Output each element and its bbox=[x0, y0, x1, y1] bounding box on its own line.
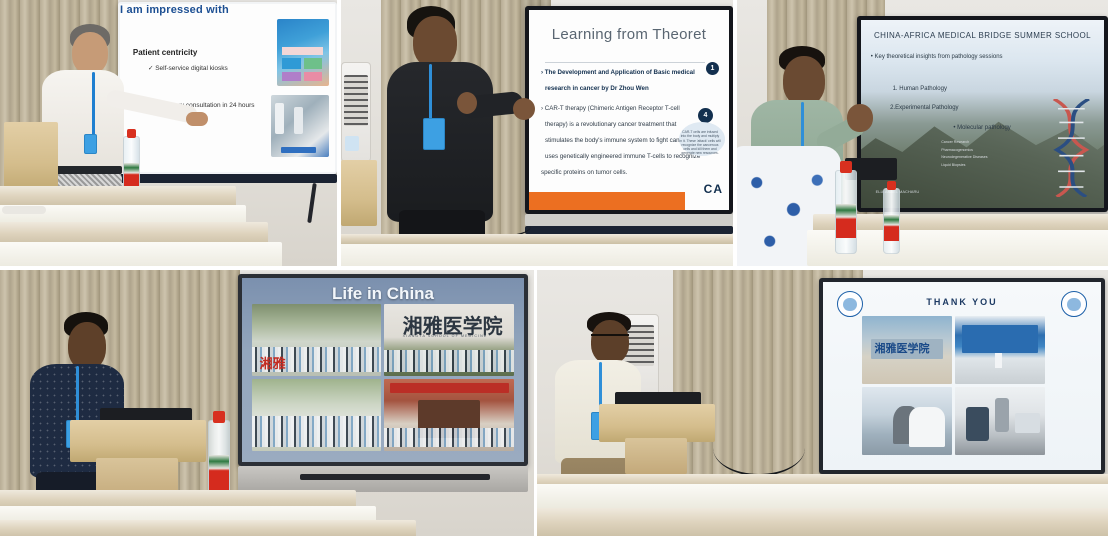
photo-microscope-lab bbox=[955, 387, 1045, 455]
water-bottle-3a bbox=[835, 170, 857, 254]
slide-title: THANK YOU bbox=[823, 297, 1101, 307]
cable-on-desk bbox=[2, 206, 46, 214]
bottle-label bbox=[884, 215, 899, 242]
slide-bullet-1: ✓ Self-service digital kiosks bbox=[148, 64, 228, 72]
slide-life-in-china: Life in China 湘雅 湘雅医学院 XIANGYA SCHOOL OF… bbox=[242, 278, 524, 462]
presenter-head bbox=[413, 16, 457, 68]
slide-bullet-2: research in cancer by Dr Zhou Wen bbox=[545, 86, 649, 93]
red-banner bbox=[390, 383, 509, 393]
slide-title: Life in China bbox=[242, 284, 524, 304]
seam-vertical-2 bbox=[733, 0, 737, 270]
display-screen-1: I am impressed with Patient centricity ✓… bbox=[118, 2, 337, 174]
xiangya-english-heading: XIANGYA SCHOOL OF MEDICINE bbox=[403, 334, 488, 338]
slide-surface-1: I am impressed with Patient centricity ✓… bbox=[120, 4, 335, 172]
podium-5 bbox=[599, 404, 715, 442]
slide-title: I am impressed with bbox=[120, 4, 253, 16]
presenter-head bbox=[68, 322, 106, 370]
photo-xiangya-wall: 湘雅医学院 XIANGYA SCHOOL OF MEDICINE bbox=[384, 304, 514, 376]
panel-bottom-right: THANK YOU 湘雅医学院 bbox=[537, 270, 1108, 536]
slide-title: CHINA-AFRICA MEDICAL BRIDGE SUMMER SCHOO… bbox=[861, 31, 1104, 40]
seam-vertical-1 bbox=[337, 0, 341, 270]
lecture-desk-row-4b bbox=[0, 520, 416, 536]
bottle-cap bbox=[887, 181, 897, 190]
standing-row bbox=[252, 416, 382, 446]
seam-horizontal bbox=[0, 266, 1108, 270]
slide-thank-you: THANK YOU 湘雅医学院 bbox=[823, 282, 1101, 470]
photo-hospital-entrance bbox=[384, 379, 514, 451]
slide-subitem-1: Cancer Research bbox=[941, 140, 969, 145]
screen-bottom-rail bbox=[118, 174, 337, 183]
slide-badge-4: 4 bbox=[698, 108, 713, 123]
dna-helix-icon bbox=[1046, 99, 1099, 197]
hall-person bbox=[995, 353, 1002, 368]
slide-surface-5: THANK YOU 湘雅医学院 bbox=[823, 282, 1101, 470]
presenter-belt bbox=[48, 166, 122, 174]
presenter-badge bbox=[423, 118, 445, 150]
group-row bbox=[384, 428, 514, 447]
xiangya-seal-red: 湘雅 bbox=[260, 353, 286, 372]
slide-subitem-2: Pharmacogenomics bbox=[941, 148, 973, 153]
slide-bullet-4: • Molecular pathology bbox=[953, 125, 1010, 131]
slide-subitem-4: Liquid Biopsies bbox=[941, 163, 965, 168]
slide-blob-text: CAR-T cells are infused into the body an… bbox=[679, 130, 721, 156]
photo-statue-selfie bbox=[862, 387, 952, 455]
presenter-hand-left bbox=[513, 98, 535, 120]
bottle-label bbox=[836, 204, 856, 238]
podium-2 bbox=[341, 160, 377, 226]
podium-1 bbox=[4, 122, 58, 192]
slide-surface-2: Learning from Theoret › The Development … bbox=[529, 10, 729, 210]
presenter-head bbox=[72, 32, 108, 74]
bottle-label bbox=[209, 455, 229, 490]
bottle-cap bbox=[127, 129, 137, 138]
slide-bullet-1: › The Development and Application of Bas… bbox=[541, 70, 695, 77]
screen-cable-5 bbox=[713, 420, 805, 476]
photo-group-doctors bbox=[252, 379, 382, 451]
photo-group-campus: 湘雅 bbox=[252, 304, 382, 376]
slide-surface-4: Life in China 湘雅 湘雅医学院 XIANGYA SCHOOL OF… bbox=[242, 278, 524, 462]
photo-collage: I am impressed with Patient centricity ✓… bbox=[0, 0, 1108, 536]
presenter-hand-right bbox=[457, 92, 477, 114]
slide-bullet-6: uses genetically engineered immune T-cel… bbox=[545, 154, 700, 161]
seam-vertical-3 bbox=[534, 266, 537, 536]
monitor bbox=[1015, 413, 1040, 433]
slide-photo-grid: 湘雅 湘雅医学院 XIANGYA SCHOOL OF MEDICINE bbox=[252, 304, 514, 451]
photo-xiangya-sign: 湘雅医学院 bbox=[862, 316, 952, 384]
screen-bottom-rail-2 bbox=[525, 214, 733, 226]
seated-row bbox=[384, 350, 514, 372]
xiangya-sign-text: 湘雅医学院 bbox=[875, 340, 930, 356]
ac-control-panel bbox=[345, 136, 359, 152]
bottle-cap bbox=[213, 411, 226, 423]
panel-top-middle: Learning from Theoret › The Development … bbox=[341, 0, 733, 266]
glasses-icon bbox=[591, 334, 629, 340]
hall-screen bbox=[962, 325, 1038, 352]
podium-column-5 bbox=[625, 438, 687, 474]
slide-logo-ca: CA bbox=[704, 182, 723, 196]
presenter-hand-raised bbox=[847, 104, 873, 132]
presenter-head bbox=[783, 56, 825, 106]
lecture-desk-top-5a bbox=[537, 484, 1108, 508]
slide-bullet-3: › CAR-T therapy (Chimeric Antigen Recept… bbox=[541, 106, 680, 113]
presenter-hand bbox=[186, 112, 208, 126]
lecture-desk-row-2 bbox=[341, 234, 733, 244]
slide-subitem-3: Neurodegenerative Diseases bbox=[941, 155, 987, 160]
presenter-head bbox=[591, 320, 629, 364]
slide-title: Learning from Theoret bbox=[529, 26, 729, 43]
display-screen-2: Learning from Theoret › The Development … bbox=[525, 6, 733, 214]
presenter-lanyard bbox=[92, 72, 95, 136]
microscope bbox=[995, 398, 1009, 432]
water-bottle-3b bbox=[883, 188, 900, 254]
person-white-coat bbox=[909, 407, 945, 446]
bottle-cap bbox=[840, 161, 853, 172]
presenter-lanyard bbox=[76, 366, 79, 424]
panel-top-right: CHINA-AFRICA MEDICAL BRIDGE SUMMER SCHOO… bbox=[737, 0, 1108, 266]
slide-learning-theoretical: Learning from Theoret › The Development … bbox=[529, 10, 729, 210]
slide-bullet-5: stimulates the body's immune system to f… bbox=[545, 138, 695, 145]
display-screen-4: Life in China 湘雅 湘雅医学院 XIANGYA SCHOOL OF… bbox=[238, 274, 528, 466]
display-screen-5: THANK YOU 湘雅医学院 bbox=[819, 278, 1105, 474]
slide-impressed-with: I am impressed with Patient centricity ✓… bbox=[120, 4, 335, 172]
presenter-lanyard bbox=[429, 64, 432, 120]
lecture-desk-row-5b bbox=[537, 508, 1108, 536]
podium-4 bbox=[70, 420, 206, 462]
panel-top-left: I am impressed with Patient centricity ✓… bbox=[0, 0, 337, 266]
slide-badge-1: 1 bbox=[706, 62, 719, 75]
screen-rail-4 bbox=[300, 474, 490, 480]
lab-technicians-photo bbox=[271, 95, 329, 157]
lecture-desk-top-2 bbox=[0, 242, 282, 266]
seated-researcher bbox=[966, 407, 989, 441]
photo-conference-hall bbox=[955, 316, 1045, 384]
digital-kiosk-photo bbox=[277, 19, 329, 86]
screen-base-2 bbox=[525, 226, 733, 234]
presenter-badge bbox=[84, 134, 97, 154]
panel-bottom-left: Life in China 湘雅 湘雅医学院 XIANGYA SCHOOL OF… bbox=[0, 270, 534, 536]
slide-bullet-4: therapy) is a revolutionary cancer treat… bbox=[545, 122, 676, 129]
slide-divider bbox=[545, 62, 705, 63]
slide-photo-grid: 湘雅医学院 bbox=[862, 316, 1045, 455]
